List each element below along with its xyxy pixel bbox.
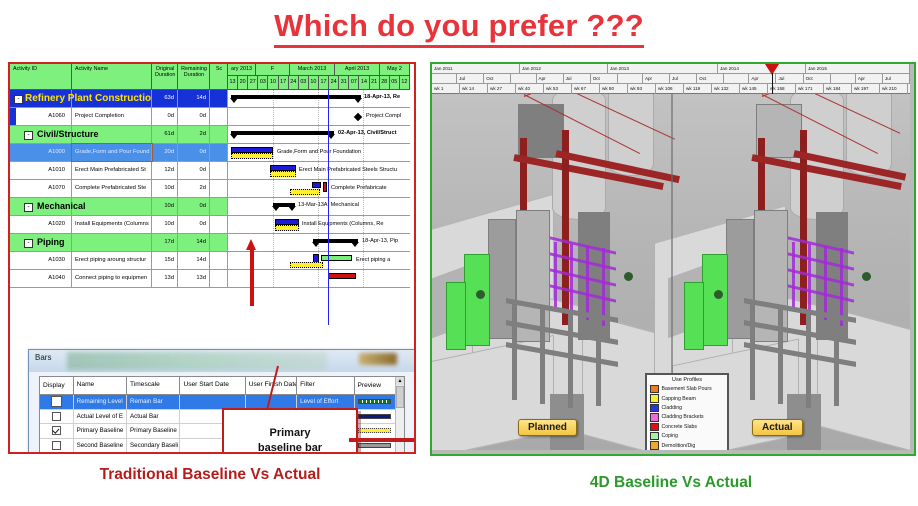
row-indicator xyxy=(10,144,16,161)
timeline-week-10: wk 132 xyxy=(712,84,740,94)
cell-schedule xyxy=(210,162,228,179)
bar-preview-cell xyxy=(355,424,397,438)
bar-label: Install Equipments (Columns, Re xyxy=(302,221,383,228)
cell-remaining-duration: 0d xyxy=(178,216,210,233)
display-checkbox-cell[interactable] xyxy=(40,424,74,438)
bar-name: Primary Baseline xyxy=(74,424,127,438)
cell-remaining-duration: 13d xyxy=(178,270,210,287)
primary-baseline-bar xyxy=(270,171,296,177)
timeline-quarter-6: Oct xyxy=(591,74,618,83)
page-title-text: Which do you prefer ??? xyxy=(274,8,644,48)
cell-activity-name: Erect Main Prefabricated St xyxy=(72,162,152,179)
cell-gantt: Complete Prefabricate xyxy=(228,180,410,197)
timeline-quarter-15 xyxy=(831,74,856,83)
summary-bar xyxy=(313,239,358,243)
critical-remaining-bar xyxy=(328,273,356,279)
cell-activity-id: A1000 xyxy=(10,144,72,161)
actual-label-badge: Actual xyxy=(752,419,803,436)
metal-deck xyxy=(806,310,811,408)
legend-label: Cladding Brackets xyxy=(662,414,704,420)
bar-filter: Normal xyxy=(297,453,354,454)
timeline-quarter-14: Oct xyxy=(804,74,831,83)
legend-label: Capping Beam xyxy=(662,396,696,402)
timescale-day-10: 24 xyxy=(329,76,339,89)
bar-user-start-date[interactable] xyxy=(180,395,245,409)
cell-remaining-duration: 0d xyxy=(178,144,210,161)
timescale-month-4: May 2 xyxy=(380,64,410,75)
summary-bar xyxy=(231,131,334,135)
timeline-week-2: wk 27 xyxy=(488,84,516,94)
scroll-up-icon[interactable]: ▲ xyxy=(396,377,404,385)
bars-dialog-title: Bars xyxy=(35,353,51,362)
metal-deck xyxy=(596,314,601,406)
bar-timescale: Primary Baseline E xyxy=(127,424,180,438)
green-construction-element xyxy=(446,282,466,350)
cell-schedule xyxy=(210,216,228,233)
bar-label: 18-Apr-13, Re xyxy=(364,94,400,101)
bar-preview-swatch xyxy=(358,443,391,448)
legend-swatch-icon xyxy=(650,441,659,450)
gantt-table-header: Activity ID Activity Name Original Durat… xyxy=(10,64,228,90)
column-header-original-duration[interactable]: Original Duration xyxy=(152,64,178,89)
timescale-month-1: F xyxy=(256,64,290,75)
cell-activity-name: Grade,Form and Pour Found xyxy=(72,144,152,161)
scrollbar-thumb[interactable] xyxy=(396,386,404,408)
cell-activity-name: Mechanical xyxy=(34,198,214,215)
bar-label: Grade,Form and Pour Foundation xyxy=(277,149,361,156)
legend-label: Coping xyxy=(662,433,678,439)
cell-activity-name: Civil/Structure xyxy=(34,126,214,143)
timescale-month-0: ary 2013 xyxy=(228,64,256,75)
timeline-quarter-10: Oct xyxy=(697,74,724,83)
column-header-activity-id[interactable]: Activity ID xyxy=(10,64,72,89)
display-checkbox[interactable] xyxy=(52,426,61,435)
summary-bar xyxy=(273,203,295,207)
timeline-week-0: wk 1 xyxy=(432,84,460,94)
cell-activity-name: Connect piping to equipmen xyxy=(72,270,152,287)
timeline-week-3: wk 40 xyxy=(516,84,544,94)
legend-swatch-icon xyxy=(650,413,659,422)
bar-preview-cell xyxy=(355,453,397,454)
timeline-quarter-11 xyxy=(724,74,749,83)
timescale-months: ary 2013 F March 2013 April 2013 May 2 xyxy=(228,64,410,76)
tree xyxy=(624,272,633,281)
remaining-work-bar xyxy=(321,255,352,261)
bar-user-finish-date[interactable] xyxy=(246,395,297,409)
timeline-quarter-7 xyxy=(618,74,643,83)
bar-preview-swatch xyxy=(358,399,391,404)
cell-gantt: Erect Main Prefabricated Steels Structu xyxy=(228,162,410,179)
timescale-day-16: 05 xyxy=(390,76,400,89)
table-row[interactable]: - Piping 17d 14d 18-Apr-13, Pip xyxy=(10,234,410,252)
expander-icon[interactable]: - xyxy=(14,95,23,104)
timeline-cursor-line xyxy=(772,73,773,94)
cell-activity-name: Complete Prefabricated Ste xyxy=(72,180,152,197)
timeline-week-13: wk 171 xyxy=(796,84,824,94)
timeline-quarter-4: Apr xyxy=(537,74,564,83)
callout-outgoing-arrow xyxy=(349,438,416,442)
table-row[interactable]: - Refinery Plant Constructio 63d 14d 18-… xyxy=(10,90,410,108)
callout-line-1: Primary xyxy=(270,426,311,441)
column-header-schedule[interactable]: Sc xyxy=(210,64,228,89)
timescale-day-17: 12 xyxy=(400,76,410,89)
cell-activity-id: A1060 xyxy=(10,108,72,125)
timescale-day-0: 13 xyxy=(228,76,238,89)
cell-gantt: Install Equipments (Columns, Re xyxy=(228,216,410,233)
gantt-timescale-header: ary 2013 F March 2013 April 2013 May 2 1… xyxy=(228,64,410,90)
page-title: Which do you prefer ??? xyxy=(0,8,918,44)
timescale-day-6: 24 xyxy=(289,76,299,89)
column-header-user-start-date[interactable]: User Start Date xyxy=(180,377,245,394)
critical-remaining-bar xyxy=(323,182,327,192)
legend-swatch-icon xyxy=(650,385,659,394)
timeline-year-1: Jan 2012 xyxy=(520,64,608,73)
legend-swatch-icon xyxy=(650,423,659,432)
timeline-quarters-row: Jul Oct Apr Jul Oct Apr Jul Oct Apr Jul … xyxy=(432,74,910,84)
bar-name: Actual Level of E xyxy=(74,410,127,424)
table-row[interactable]: A1030 Erect piping aroung structur 15d 1… xyxy=(10,252,410,270)
table-row[interactable]: - Mechanical 10d 0d 13-Mar-13A, Mechanic… xyxy=(10,198,410,216)
legend-swatch-icon xyxy=(650,404,659,413)
cell-gantt xyxy=(228,270,410,287)
timeline-quarter-0 xyxy=(432,74,457,83)
timeline-week-5: wk 67 xyxy=(572,84,600,94)
cell-activity-name: Refinery Plant Constructio xyxy=(22,90,222,107)
table-row[interactable]: A1000 Grade,Form and Pour Found 20d 0d G… xyxy=(10,144,410,162)
bar-timescale: Secondary Baseli xyxy=(127,439,180,453)
tree xyxy=(714,290,723,299)
fourd-timeline-header: Jan 2011 Jan 2012 Jan 2013 Jan 2014 Jan … xyxy=(432,64,910,94)
metal-deck xyxy=(750,302,755,400)
timeline-week-6: wk 80 xyxy=(600,84,628,94)
primary-baseline-bar xyxy=(290,262,323,268)
display-checkbox[interactable] xyxy=(51,396,62,407)
metal-deck xyxy=(512,302,517,400)
display-checkbox[interactable] xyxy=(52,412,61,421)
timeline-quarter-1: Jul xyxy=(457,74,484,83)
legend-label: Basement Slab Pours xyxy=(662,386,712,392)
tree xyxy=(862,272,871,281)
cell-activity-id: A1020 xyxy=(10,216,72,233)
display-checkbox-cell[interactable] xyxy=(40,395,74,409)
timeline-week-11: wk 145 xyxy=(740,84,768,94)
timeline-quarter-5: Jul xyxy=(564,74,591,83)
baseline-pointer-arrow xyxy=(248,239,255,305)
cell-gantt: Erect piping a xyxy=(228,252,410,269)
timescale-day-1: 20 xyxy=(238,76,248,89)
bars-grid-header: Display Name Timescale User Start Date U… xyxy=(40,377,404,395)
timeline-week-15: wk 197 xyxy=(852,84,880,94)
bar-user-start-date[interactable] xyxy=(180,453,245,454)
legend-item: Concrete Slabs xyxy=(650,422,724,431)
column-header-name[interactable]: Name xyxy=(74,377,127,394)
timescale-day-5: 17 xyxy=(279,76,289,89)
cell-gantt: Grade,Form and Pour Foundation xyxy=(228,144,410,161)
steel-framing-element xyxy=(824,246,827,320)
bar-timescale: Actual Bar xyxy=(127,410,180,424)
fourd-model-panel: Jan 2011 Jan 2012 Jan 2013 Jan 2014 Jan … xyxy=(430,62,916,456)
cell-activity-id: A1070 xyxy=(10,180,72,197)
summary-bar xyxy=(231,95,361,99)
primary-baseline-bar xyxy=(231,153,273,159)
cell-schedule xyxy=(210,270,228,287)
table-row[interactable]: A1070 Complete Prefabricated Ste 10d 2d … xyxy=(10,180,410,198)
cell-activity-id: A1010 xyxy=(10,162,72,179)
expander-icon[interactable]: - xyxy=(24,131,33,140)
legend-item: Basement Slab Pours xyxy=(650,385,724,394)
expander-icon[interactable]: - xyxy=(24,203,33,212)
metal-deck xyxy=(778,306,783,404)
timeline-year-3: Jan 2014 xyxy=(718,64,806,73)
steel-framing-element xyxy=(586,246,589,320)
timescale-day-2: 27 xyxy=(248,76,258,89)
metal-deck xyxy=(834,314,839,406)
table-row[interactable]: A1060 Project Completion 0d 0d Project C… xyxy=(10,108,410,126)
cell-gantt: 18-Apr-13, Re xyxy=(228,90,410,107)
cell-remaining-duration: 14d xyxy=(178,252,210,269)
steel-framing-element xyxy=(570,244,573,314)
timeline-quarter-2: Oct xyxy=(484,74,511,83)
timeline-week-4: wk 53 xyxy=(544,84,572,94)
legend-label: Concrete Slabs xyxy=(662,424,697,430)
cell-original-duration: 10d xyxy=(152,180,178,197)
callout-line-2: baseline bar xyxy=(258,441,322,454)
timescale-day-13: 14 xyxy=(359,76,369,89)
timeline-weeks-row: wk 1 wk 14 wk 27 wk 40 wk 53 wk 67 wk 80… xyxy=(432,84,910,94)
timeline-year-0: Jan 2011 xyxy=(432,64,520,73)
right-caption: 4D Baseline Vs Actual xyxy=(430,474,912,492)
cell-gantt: Project Compl xyxy=(228,108,410,125)
titlebar-blurred-toolbar xyxy=(67,352,327,370)
column-header-remaining-duration[interactable]: Remaining Duration xyxy=(178,64,210,89)
timeline-quarter-13: Jul xyxy=(776,74,803,83)
column-header-preview[interactable]: Preview xyxy=(355,377,397,394)
tree xyxy=(476,290,485,299)
cell-schedule xyxy=(210,144,228,161)
timescale-day-9: 17 xyxy=(319,76,329,89)
planned-label-badge: Planned xyxy=(518,419,577,436)
cell-activity-name: Erect piping aroung structur xyxy=(72,252,152,269)
cell-original-duration: 20d xyxy=(152,144,178,161)
bars-dialog-titlebar[interactable]: Bars xyxy=(29,350,415,372)
timescale-day-7: 03 xyxy=(299,76,309,89)
green-construction-element xyxy=(464,254,490,346)
legend-item: Capping Beam xyxy=(650,394,724,403)
timescale-month-3: April 2013 xyxy=(335,64,380,75)
cell-activity-name: Project Completion xyxy=(72,108,152,125)
table-row[interactable]: A1040 Connect piping to equipmen 13d 13d xyxy=(10,270,410,288)
bar-preview-swatch xyxy=(358,428,391,433)
bar-name: Third Baseline xyxy=(74,453,127,454)
green-construction-element xyxy=(684,282,704,350)
cell-original-duration: 13d xyxy=(152,270,178,287)
cell-original-duration: 15d xyxy=(152,252,178,269)
steel-framing-element xyxy=(808,244,811,314)
cell-remaining-duration: 0d xyxy=(178,108,210,125)
column-header-filter[interactable]: Filter xyxy=(297,377,354,394)
timeline-week-1: wk 14 xyxy=(460,84,488,94)
bar-label: 02-Apr-13, Civil/Struct xyxy=(338,130,396,137)
bar-label: Project Compl xyxy=(366,113,401,120)
fourd-3d-viewport[interactable]: Use Profiles Basement Slab Pours Capping… xyxy=(432,94,910,450)
timeline-week-16: wk 210 xyxy=(880,84,908,94)
bars-grid-scrollbar[interactable]: ▲ ▼ xyxy=(395,377,404,454)
bar-timescale: Remain Bar xyxy=(127,395,180,409)
bars-dialog[interactable]: Bars Display Name Timescale User Start D… xyxy=(28,349,416,454)
timescale-month-2: March 2013 xyxy=(290,64,335,75)
timeline-quarter-9: Jul xyxy=(670,74,697,83)
timeline-week-9: wk 119 xyxy=(684,84,712,94)
column-header-timescale[interactable]: Timescale xyxy=(127,377,180,394)
arrow-shaft xyxy=(250,248,254,306)
milestone-marker xyxy=(354,113,362,121)
cell-original-duration: 0d xyxy=(152,108,178,125)
timeline-week-14: wk 184 xyxy=(824,84,852,94)
cell-activity-id: A1040 xyxy=(10,270,72,287)
table-row[interactable]: A1010 Erect Main Prefabricated St 12d 0d… xyxy=(10,162,410,180)
display-checkbox-cell[interactable] xyxy=(40,410,74,424)
legend-item: Cladding Brackets xyxy=(650,413,724,422)
gantt-rows: - Refinery Plant Constructio 63d 14d 18-… xyxy=(10,90,410,288)
legend-item: Coping xyxy=(650,431,724,440)
bar-preview-swatch xyxy=(358,414,391,419)
timeline-week-7: wk 93 xyxy=(628,84,656,94)
timescale-day-14: 21 xyxy=(370,76,380,89)
cell-schedule xyxy=(210,180,228,197)
cell-activity-name: Install Equipments (Columns xyxy=(72,216,152,233)
traditional-gantt-panel: Activity ID Activity Name Original Durat… xyxy=(8,62,416,454)
cell-original-duration: 12d xyxy=(152,162,178,179)
timescale-day-3: 03 xyxy=(258,76,268,89)
table-row[interactable]: Third Baseline Tertiary Baseline E Norma… xyxy=(40,453,404,454)
cell-gantt: 13-Mar-13A, Mechanical xyxy=(228,198,410,215)
cell-remaining-duration: 2d xyxy=(178,180,210,197)
timeline-quarter-17: Jul xyxy=(883,74,910,83)
primary-baseline-callout: Primary baseline bar xyxy=(222,408,358,454)
bar-filter: Level of Effort xyxy=(297,395,354,409)
timescale-day-11: 31 xyxy=(339,76,349,89)
column-header-activity-name[interactable]: Activity Name xyxy=(72,64,152,89)
timescale-days: 13 20 27 03 10 17 24 03 10 17 24 31 07 1… xyxy=(228,76,410,89)
data-date-line xyxy=(328,90,329,325)
slide-root: Which do you prefer ??? Activity ID Acti… xyxy=(0,0,918,506)
display-checkbox-cell[interactable] xyxy=(40,453,74,454)
bar-name: Second Baseline xyxy=(74,439,127,453)
green-construction-element xyxy=(702,254,728,346)
legend-swatch-icon xyxy=(650,394,659,403)
cell-remaining-duration: 0d xyxy=(178,162,210,179)
legend-item: Demolition/Dig xyxy=(650,441,724,450)
cell-schedule xyxy=(210,252,228,269)
table-row[interactable]: A1020 Install Equipments (Columns 10d 0d… xyxy=(10,216,410,234)
bar-label: Complete Prefabricate xyxy=(331,185,387,192)
legend-swatch-icon xyxy=(650,432,659,441)
steel-framing-element xyxy=(554,242,557,308)
cell-activity-name: Piping xyxy=(34,234,214,251)
display-checkbox[interactable] xyxy=(52,441,61,450)
bar-preview-cell xyxy=(355,395,397,409)
cell-schedule xyxy=(210,108,228,125)
actual-work-bar xyxy=(312,182,321,188)
timescale-day-12: 07 xyxy=(349,76,359,89)
timescale-day-8: 10 xyxy=(309,76,319,89)
bar-label: Erect piping a xyxy=(356,257,390,264)
timescale-day-15: 28 xyxy=(380,76,390,89)
cell-original-duration: 10d xyxy=(152,216,178,233)
legend-label: Demolition/Dig xyxy=(662,443,696,449)
use-profiles-legend: Use Profiles Basement Slab Pours Capping… xyxy=(645,373,729,450)
primary-baseline-bar xyxy=(275,225,299,231)
column-header-display[interactable]: Display xyxy=(40,377,74,394)
timeline-week-8: wk 106 xyxy=(656,84,684,94)
cell-gantt: 02-Apr-13, Civil/Struct xyxy=(228,126,410,143)
primary-baseline-bar xyxy=(290,189,320,195)
bar-label: 18-Apr-13, Pip xyxy=(362,238,398,245)
legend-item: Cladding xyxy=(650,403,724,412)
bar-name: Remaining Level xyxy=(74,395,127,409)
metal-deck xyxy=(568,310,573,408)
timescale-day-4: 10 xyxy=(268,76,278,89)
legend-title: Use Profiles xyxy=(650,377,724,383)
cell-activity-id: A1030 xyxy=(10,252,72,269)
display-checkbox-cell[interactable] xyxy=(40,439,74,453)
metal-deck xyxy=(540,306,545,404)
bar-label: Erect Main Prefabricated Steels Structu xyxy=(299,167,397,174)
bar-user-finish-date[interactable] xyxy=(246,453,297,454)
titlebar-blurred-badge xyxy=(359,353,397,365)
timeline-quarter-3 xyxy=(511,74,536,83)
bar-preview-cell xyxy=(355,410,397,424)
timeline-quarter-16: Apr xyxy=(856,74,883,83)
row-scroll-spacer xyxy=(396,453,404,454)
steel-framing-element xyxy=(792,242,795,308)
row-indicator xyxy=(10,108,16,125)
timeline-quarter-8: Apr xyxy=(643,74,670,83)
expander-icon[interactable]: - xyxy=(24,239,33,248)
bar-timescale: Tertiary Baseline E xyxy=(127,453,180,454)
table-row[interactable]: - Civil/Structure 61d 2d 02-Apr-13, Civi… xyxy=(10,126,410,144)
timeline-years-row: Jan 2011 Jan 2012 Jan 2013 Jan 2014 Jan … xyxy=(432,64,910,74)
legend-label: Cladding xyxy=(662,405,682,411)
timeline-year-4: Jan 2015 xyxy=(806,64,910,73)
timeline-year-2: Jan 2013 xyxy=(608,64,718,73)
left-caption: Traditional Baseline Vs Actual xyxy=(8,466,412,484)
